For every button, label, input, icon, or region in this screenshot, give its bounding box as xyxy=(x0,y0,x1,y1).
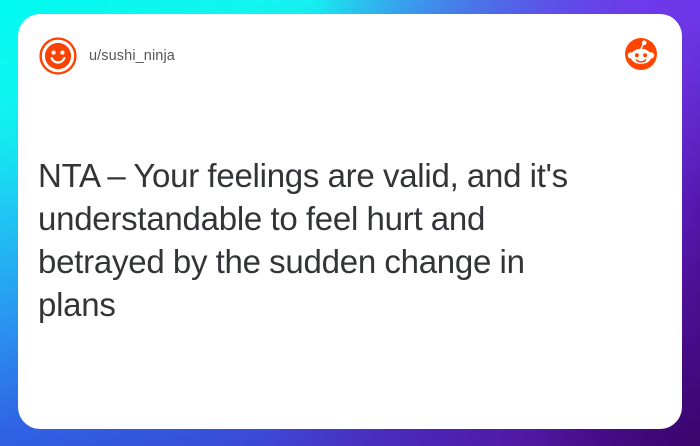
card-header: u/sushi_ninja xyxy=(18,14,682,106)
reddit-snoo-logo-icon[interactable] xyxy=(624,37,658,71)
quote-card: u/sushi_ninja NTA – Your feelings are va… xyxy=(18,14,682,429)
smiley-face-avatar-icon xyxy=(38,36,78,76)
quote-text: NTA – Your feelings are valid, and it's … xyxy=(38,154,604,326)
user-identity-block[interactable]: u/sushi_ninja xyxy=(38,36,175,76)
username-label: u/sushi_ninja xyxy=(89,49,175,64)
screenshot-root: u/sushi_ninja NTA – Your feelings are va… xyxy=(0,0,700,446)
